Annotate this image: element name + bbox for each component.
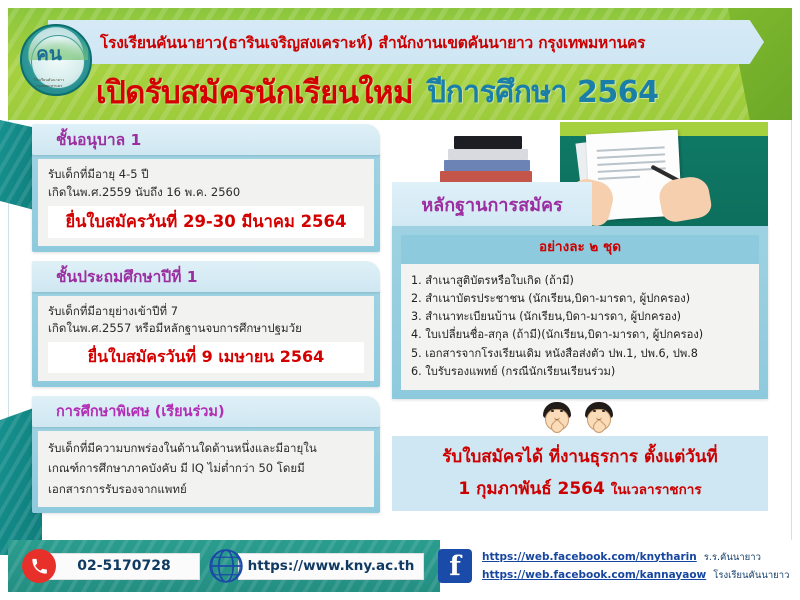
emblem-subtext: โรงเรียนคันนายาว กรุงเทพมหานคร: [22, 77, 76, 89]
section-header: ชั้นประถมศึกษาปีที่ 1: [32, 261, 380, 292]
headline-row: เปิดรับสมัครนักเรียนใหม่ ปีการศึกษา 2564: [96, 70, 736, 114]
application-date-box: ยื่นใบสมัครวันที่ 29-30 มีนาคม 2564: [48, 206, 364, 238]
section-body: รับเด็กที่มีอายุย่างเข้าปีที่ 7 เกิดในพ.…: [32, 290, 380, 388]
quantity-note-band: อย่างละ ๒ ชุด: [401, 235, 759, 264]
section-line: เอกสารการรับรองจากแพทย์: [48, 479, 364, 499]
phone-icon: [22, 549, 56, 583]
facebook-label: ร.ร.คันนายาว: [704, 550, 761, 565]
section-body: รับเด็กที่มีความบกพร่องในด้านใดด้านหนึ่ง…: [32, 425, 380, 512]
document-list-item: 3. สำเนาทะเบียนบ้าน (นักเรียน,บิดา-มารดา…: [411, 308, 749, 326]
emblem-monogram: คน: [22, 39, 76, 69]
student-boy-icon: [580, 402, 618, 434]
section-special-education: การศึกษาพิเศษ (เรียนร่วม) รับเด็กที่มีคว…: [32, 396, 380, 512]
documents-title-bar: หลักฐานการสมัคร: [392, 182, 592, 226]
facebook-label: โรงเรียนคันนายาว: [713, 568, 789, 583]
globe-icon: [206, 546, 246, 586]
facebook-url[interactable]: https://web.facebook.com/kannayaow: [482, 569, 706, 581]
section-title: ชั้นประถมศึกษาปีที่ 1: [56, 264, 198, 289]
application-date-text: ยื่นใบสมัครวันที่ 9 เมษายน 2564: [88, 347, 325, 366]
section-body-inner: รับเด็กที่มีอายุย่างเข้าปีที่ 7 เกิดในพ.…: [38, 296, 374, 382]
facebook-link-row: https://web.facebook.com/kannayaow โรงเร…: [482, 568, 789, 583]
students-greeting-illustration: [392, 400, 768, 434]
document-list-item: 4. ใบเปลี่ยนชื่อ-สกุล (ถ้ามี)(นักเรียน,บ…: [411, 326, 749, 344]
pickup-hours: ในเวลาราชการ: [611, 482, 702, 498]
section-header: ชั้นอนุบาล 1: [32, 124, 380, 155]
section-line: รับเด็กที่มีความบกพร่องในด้านใดด้านหนึ่ง…: [48, 438, 364, 458]
section-title: ชั้นอนุบาล 1: [56, 127, 141, 152]
footer-band: 02-5170728 https://www.kny.ac.th f https…: [8, 540, 792, 592]
document-list-item: 6. ใบรับรองแพทย์ (กรณีนักเรียนเรียนร่วม): [411, 363, 749, 381]
section-line: เกิดในพ.ศ.2557 หรือมีหลักฐานจบการศึกษาปฐ…: [48, 320, 364, 338]
section-title: การศึกษาพิเศษ (เรียนร่วม): [56, 400, 225, 423]
facebook-icon[interactable]: f: [438, 549, 472, 583]
school-name-text: โรงเรียนคันนายาว(ธารินเจริญสงเคราะห์) สำ…: [100, 30, 645, 55]
facebook-link-row: https://web.facebook.com/knytharin ร.ร.ค…: [482, 550, 789, 565]
section-body-inner: รับเด็กที่มีอายุ 4-5 ปี เกิดในพ.ศ.2559 น…: [38, 159, 374, 246]
section-body-inner: รับเด็กที่มีความบกพร่องในด้านใดด้านหนึ่ง…: [38, 431, 374, 506]
left-column: ชั้นอนุบาล 1 รับเด็กที่มีอายุ 4-5 ปี เกิ…: [32, 124, 380, 522]
book-stack-icon: [444, 160, 530, 171]
section-line: เกณฑ์การศึกษาภาคบังคับ มี IQ ไม่ต่ำกว่า …: [48, 458, 364, 478]
document-list-item: 1. สำเนาสูติบัตรหรือใบเกิด (ถ้ามี): [411, 272, 749, 290]
admission-poster: โรงเรียนคันนายาว(ธารินเจริญสงเคราะห์) สำ…: [0, 0, 800, 600]
right-column: หลักฐานการสมัคร อย่างละ ๒ ชุด 1. สำเนาสู…: [392, 122, 768, 511]
pickup-start-date: 1 กุมภาพันธ์ 2564: [458, 479, 604, 499]
pickup-note-line2: 1 กุมภาพันธ์ 2564 ในเวลาราชการ: [396, 475, 764, 502]
pickup-note-line1: รับใบสมัครได้ ที่งานธุรการ ตั้งแต่วันที่: [396, 443, 764, 470]
application-date-text: ยื่นใบสมัครวันที่ 29-30 มีนาคม 2564: [65, 212, 346, 231]
section-line: เกิดในพ.ศ.2559 นับถึง 16 พ.ค. 2560: [48, 184, 364, 202]
book-stack-icon: [454, 136, 522, 149]
school-logo-icon: คน โรงเรียนคันนายาว กรุงเทพมหานคร: [20, 24, 92, 96]
facebook-url[interactable]: https://web.facebook.com/knytharin: [482, 551, 697, 563]
footer-content: 02-5170728 https://www.kny.ac.th f https…: [8, 540, 792, 592]
documents-card: อย่างละ ๒ ชุด 1. สำเนาสูติบัตรหรือใบเกิด…: [392, 226, 768, 399]
headline-primary: เปิดรับสมัครนักเรียนใหม่: [96, 67, 413, 117]
section-line: รับเด็กที่มีอายุย่างเข้าปีที่ 7: [48, 303, 364, 321]
document-list-item: 5. เอกสารจากโรงเรียนเดิม หนังสือส่งตัว ป…: [411, 345, 749, 363]
section-primary-grade1: ชั้นประถมศึกษาปีที่ 1 รับเด็กที่มีอายุย่…: [32, 261, 380, 388]
section-header: การศึกษาพิเศษ (เรียนร่วม): [32, 396, 380, 427]
document-list-item: 2. สำเนาบัตรประชาชน (นักเรียน,บิดา-มารดา…: [411, 290, 749, 308]
school-title-plate: โรงเรียนคันนายาว(ธารินเจริญสงเคราะห์) สำ…: [48, 20, 764, 64]
facebook-links: https://web.facebook.com/knytharin ร.ร.ค…: [482, 550, 789, 583]
quantity-note-text: อย่างละ ๒ ชุด: [539, 239, 621, 255]
student-girl-icon: [538, 402, 576, 434]
website-url[interactable]: https://www.kny.ac.th: [238, 553, 424, 580]
documents-title: หลักฐานการสมัคร: [421, 190, 562, 219]
pickup-note: รับใบสมัครได้ ที่งานธุรการ ตั้งแต่วันที่…: [392, 436, 768, 511]
application-date-box: ยื่นใบสมัครวันที่ 9 เมษายน 2564: [48, 342, 364, 373]
section-body: รับเด็กที่มีอายุ 4-5 ปี เกิดในพ.ศ.2559 น…: [32, 153, 380, 252]
section-kindergarten: ชั้นอนุบาล 1 รับเด็กที่มีอายุ 4-5 ปี เกิ…: [32, 124, 380, 252]
section-line: รับเด็กที่มีอายุ 4-5 ปี: [48, 166, 364, 184]
book-stack-icon: [448, 149, 528, 160]
phone-number[interactable]: 02-5170728: [48, 553, 200, 580]
documents-list: 1. สำเนาสูติบัตรหรือใบเกิด (ถ้ามี) 2. สำ…: [401, 264, 759, 390]
headline-academic-year: ปีการศึกษา 2564: [427, 69, 658, 116]
